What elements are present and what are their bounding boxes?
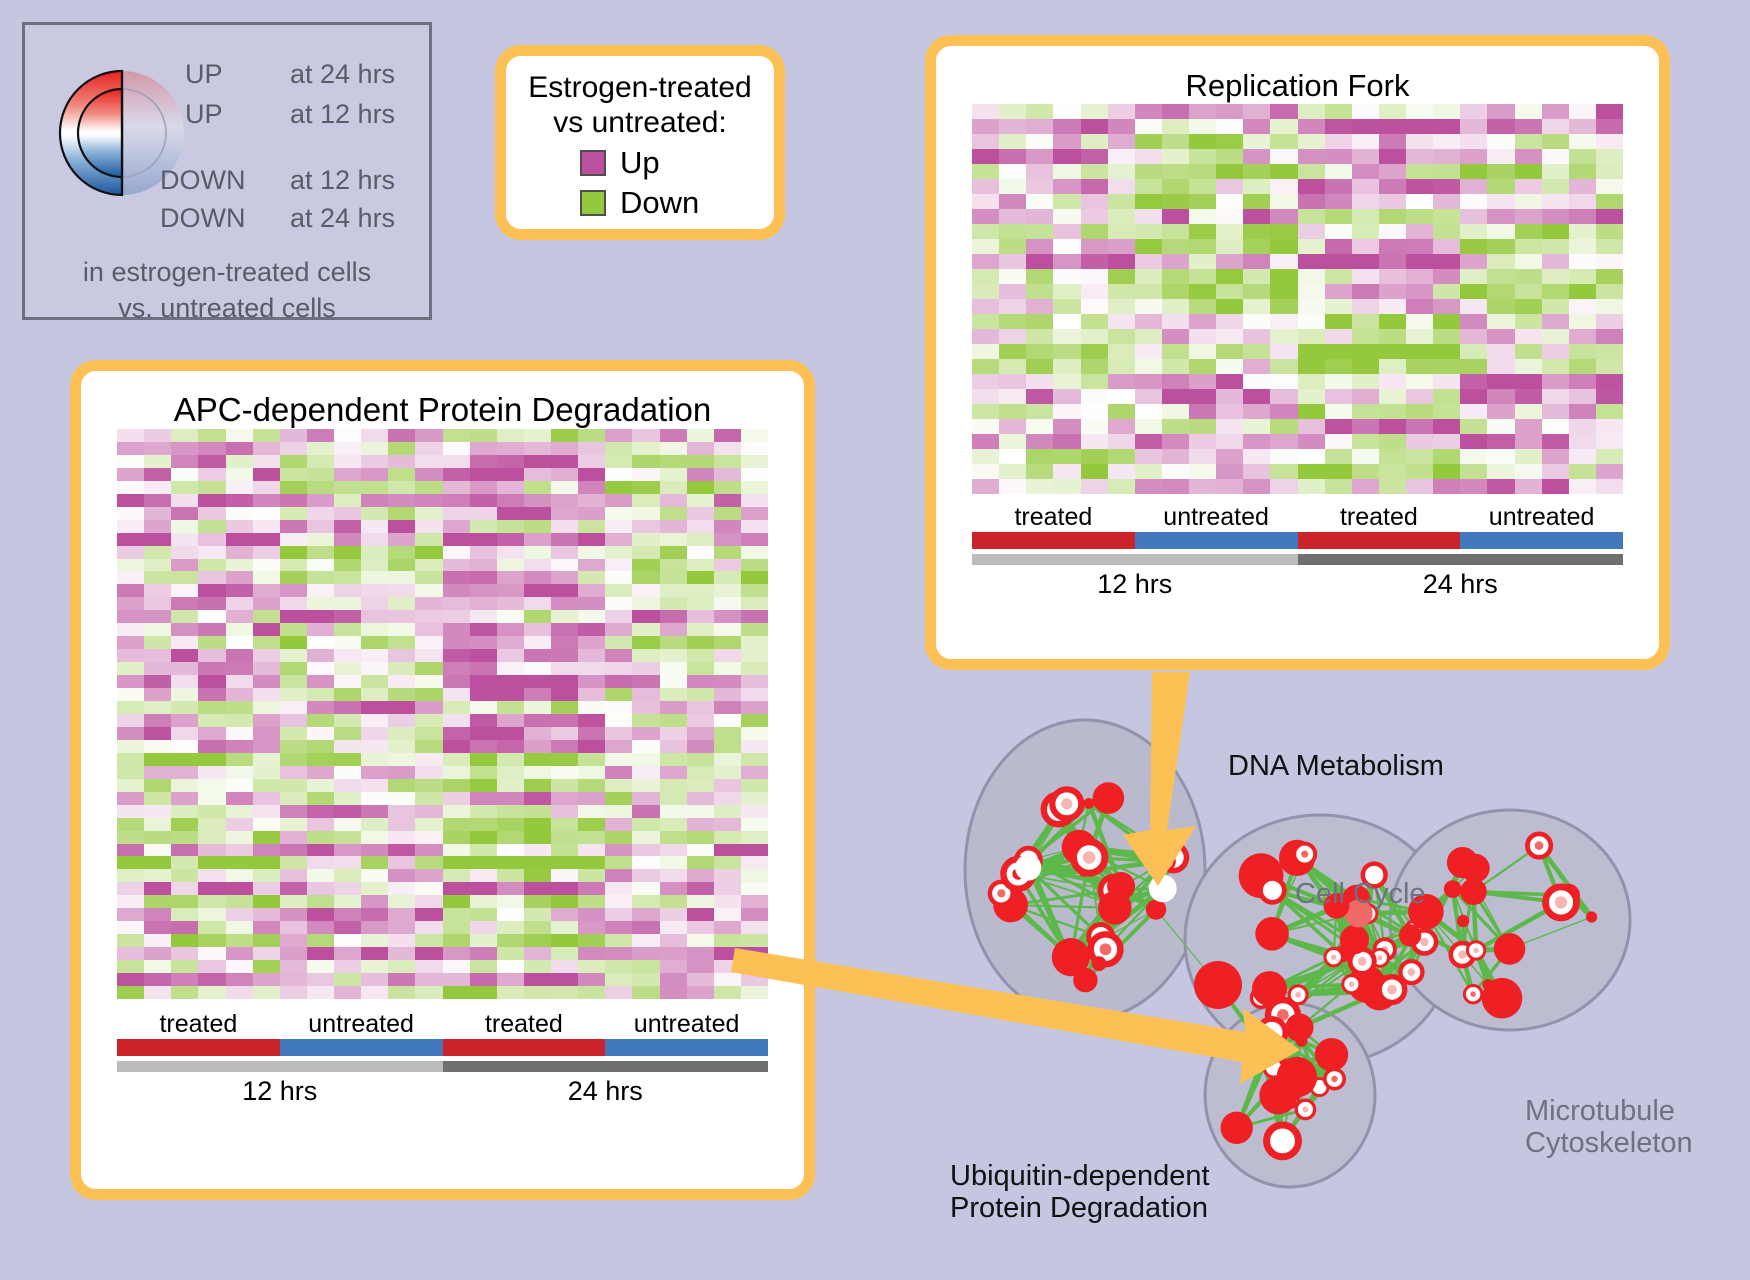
- heatmap-cell: [1352, 224, 1379, 239]
- heatmap-cell: [1243, 449, 1270, 464]
- heatmap-cell: [497, 882, 524, 895]
- heatmap-cell: [117, 792, 144, 805]
- heatmap-cell: [443, 844, 470, 857]
- heatmap-cell: [660, 844, 687, 857]
- heatmap-cell: [1216, 149, 1243, 164]
- heatmap-cell: [1243, 134, 1270, 149]
- heatmap-cell: [280, 831, 307, 844]
- heatmap-cell: [1460, 164, 1487, 179]
- heatmap-cell: [1379, 389, 1406, 404]
- heatmap-cell: [144, 882, 171, 895]
- heatmap-cell: [524, 533, 551, 546]
- heatmap-cell: [741, 546, 768, 559]
- network-node-core: [1295, 992, 1301, 998]
- heatmap-cell: [1053, 299, 1080, 314]
- heatmap-cell: [361, 934, 388, 947]
- heatmap-cell: [1243, 479, 1270, 494]
- heatmap-cell: [226, 805, 253, 818]
- heatmap-cell: [415, 869, 442, 882]
- heatmap-cell: [741, 869, 768, 882]
- heatmap-cell: [1352, 104, 1379, 119]
- heatmap-cell: [1270, 374, 1297, 389]
- heatmap-cell: [470, 740, 497, 753]
- heatmap-cell: [443, 779, 470, 792]
- heatmap-cell: [497, 753, 524, 766]
- heatmap-cell: [632, 533, 659, 546]
- heatmap-cell: [524, 818, 551, 831]
- heatmap-cell: [1135, 134, 1162, 149]
- heatmap-cell: [226, 662, 253, 675]
- heatmap-cell: [687, 792, 714, 805]
- heatmap-cell: [253, 533, 280, 546]
- heatmap-cell: [605, 468, 632, 481]
- heatmap-cell: [1189, 299, 1216, 314]
- heatmap-cell: [605, 753, 632, 766]
- heatmap-cell: [1108, 329, 1135, 344]
- heatmap-cell: [1596, 404, 1623, 419]
- heatmap-cell: [198, 869, 225, 882]
- heatmap-cell: [253, 610, 280, 623]
- heatmap-cell: [171, 960, 198, 973]
- heatmap-cell: [388, 727, 415, 740]
- heatmap-cell: [334, 805, 361, 818]
- heatmap-cell: [524, 481, 551, 494]
- heatmap-cell: [307, 960, 334, 973]
- heatmap-cell: [144, 507, 171, 520]
- heatmap-cell: [687, 766, 714, 779]
- heatmap-cell: [1135, 164, 1162, 179]
- heatmap-cell: [334, 701, 361, 714]
- heatmap-cell: [388, 546, 415, 559]
- heatmap-cell: [144, 688, 171, 701]
- heatmap-cell: [1569, 299, 1596, 314]
- heatmap-cell: [470, 869, 497, 882]
- heatmap-cell: [1270, 239, 1297, 254]
- heatmap-cell: [687, 882, 714, 895]
- heatmap-cell: [1270, 329, 1297, 344]
- heatmap-cell: [660, 986, 687, 999]
- heatmap-cell: [144, 584, 171, 597]
- heatmap-cell: [226, 520, 253, 533]
- heatmap-cell: [1542, 149, 1569, 164]
- heatmap-cell: [171, 740, 198, 753]
- heatmap-cell: [117, 597, 144, 610]
- heatmap-cell: [1596, 479, 1623, 494]
- heatmap-cell: [660, 610, 687, 623]
- legend-row-3-label: DOWN: [160, 203, 245, 234]
- heatmap-cell: [1569, 434, 1596, 449]
- heatmap-cell: [1379, 434, 1406, 449]
- heatmap-cell: [497, 766, 524, 779]
- heatmap-cell: [144, 960, 171, 973]
- heatmap-cell: [117, 805, 144, 818]
- heatmap-cell: [497, 947, 524, 960]
- heatmap-cell: [714, 507, 741, 520]
- heatmap-cell: [1243, 374, 1270, 389]
- heatmap-cell: [1487, 239, 1514, 254]
- heatmap-cell: [999, 179, 1026, 194]
- heatmap-cell: [226, 792, 253, 805]
- heatmap-cell: [334, 623, 361, 636]
- network-node-core: [1100, 943, 1112, 955]
- heatmap-cell: [1596, 164, 1623, 179]
- heatmap-cell: [280, 921, 307, 934]
- heatmap-cell: [1460, 329, 1487, 344]
- heatmap-cell: [1325, 299, 1352, 314]
- heatmap-cell: [226, 546, 253, 559]
- heatmap-cell: [361, 844, 388, 857]
- heatmap-cell: [334, 934, 361, 947]
- network-node-core: [1555, 896, 1567, 908]
- heatmap-cell: [1433, 314, 1460, 329]
- condition-bar-segment: [1460, 532, 1623, 549]
- heatmap-cell: [687, 559, 714, 572]
- heatmap-cell: [144, 533, 171, 546]
- heatmap-cell: [1081, 269, 1108, 284]
- heatmap-cell: [972, 479, 999, 494]
- heatmap-cell: [1487, 284, 1514, 299]
- heatmap-cell: [524, 882, 551, 895]
- heatmap-cell: [632, 494, 659, 507]
- heatmap-cell: [714, 805, 741, 818]
- heatmap-cell: [1433, 389, 1460, 404]
- heatmap-cell: [443, 831, 470, 844]
- updown-title-line1: Estrogen-treated: [506, 70, 774, 105]
- heatmap-cell: [687, 571, 714, 584]
- heatmap-cell: [660, 571, 687, 584]
- heatmap-cell: [334, 818, 361, 831]
- heatmap-cell: [1487, 374, 1514, 389]
- heatmap-cell: [1460, 119, 1487, 134]
- heatmap-cell: [1162, 224, 1189, 239]
- heatmap-cell: [226, 468, 253, 481]
- heatmap-cell: [361, 882, 388, 895]
- heatmap-cell: [280, 947, 307, 960]
- heatmap-cell: [1569, 389, 1596, 404]
- heatmap-cell: [524, 921, 551, 934]
- heatmap-cell: [524, 973, 551, 986]
- heatmap-cell: [551, 986, 578, 999]
- heatmap-cell: [1108, 299, 1135, 314]
- heatmap-cell: [497, 546, 524, 559]
- heatmap-cell: [551, 429, 578, 442]
- condition-label: untreated: [1135, 503, 1298, 532]
- heatmap-cell: [1515, 134, 1542, 149]
- heatmap-cell: [687, 688, 714, 701]
- heatmap-cell: [1081, 314, 1108, 329]
- heatmap-cell: [1270, 254, 1297, 269]
- heatmap-cell: [1406, 404, 1433, 419]
- heatmap-cell: [687, 429, 714, 442]
- heatmap-cell: [1298, 239, 1325, 254]
- heatmap-cell: [280, 934, 307, 947]
- heatmap-cell: [117, 701, 144, 714]
- heatmap-cell: [1243, 164, 1270, 179]
- heatmap-cell: [632, 856, 659, 869]
- heatmap-cell: [1189, 119, 1216, 134]
- heatmap-cell: [1379, 269, 1406, 284]
- heatmap-cell: [1298, 314, 1325, 329]
- heatmap-cell: [578, 844, 605, 857]
- apc-timepoint-bar: [117, 1061, 768, 1072]
- heatmap-cell: [1460, 434, 1487, 449]
- heatmap-cell: [1596, 194, 1623, 209]
- legend-row-0-time: at 24 hrs: [290, 59, 395, 90]
- heatmap-cell: [714, 559, 741, 572]
- heatmap-cell: [1053, 209, 1080, 224]
- heatmap-cell: [280, 960, 307, 973]
- heatmap-cell: [171, 533, 198, 546]
- heatmap-cell: [551, 610, 578, 623]
- heatmap-cell: [524, 753, 551, 766]
- heatmap-cell: [1596, 269, 1623, 284]
- heatmap-cell: [1108, 254, 1135, 269]
- heatmap-cell: [632, 546, 659, 559]
- heatmap-cell: [334, 533, 361, 546]
- heatmap-cell: [1325, 149, 1352, 164]
- heatmap-cell: [632, 818, 659, 831]
- heatmap-cell: [1270, 179, 1297, 194]
- heatmap-cell: [497, 844, 524, 857]
- heatmap-cell: [660, 818, 687, 831]
- heatmap-cell: [1433, 269, 1460, 284]
- heatmap-cell: [1596, 179, 1623, 194]
- heatmap-cell: [1189, 464, 1216, 479]
- heatmap-cell: [1379, 179, 1406, 194]
- heatmap-cell: [443, 520, 470, 533]
- heatmap-cell: [687, 895, 714, 908]
- heatmap-cell: [388, 714, 415, 727]
- heatmap-cell: [307, 805, 334, 818]
- heatmap-cell: [253, 636, 280, 649]
- heatmap-cell: [388, 960, 415, 973]
- heatmap-cell: [1162, 479, 1189, 494]
- heatmap-cell: [578, 494, 605, 507]
- heatmap-cell: [714, 649, 741, 662]
- heatmap-cell: [578, 856, 605, 869]
- heatmap-cell: [253, 805, 280, 818]
- heatmap-cell: [171, 973, 198, 986]
- heatmap-cell: [632, 520, 659, 533]
- heatmap-cell: [687, 520, 714, 533]
- heatmap-cell: [1379, 164, 1406, 179]
- heatmap-cell: [144, 947, 171, 960]
- heatmap-cell: [307, 895, 334, 908]
- heatmap-cell: [741, 882, 768, 895]
- heatmap-cell: [1433, 194, 1460, 209]
- heatmap-cell: [660, 688, 687, 701]
- heatmap-cell: [1081, 194, 1108, 209]
- heatmap-cell: [415, 546, 442, 559]
- heatmap-cell: [660, 727, 687, 740]
- heatmap-cell: [226, 818, 253, 831]
- heatmap-cell: [1189, 449, 1216, 464]
- heatmap-cell: [632, 649, 659, 662]
- heatmap-cell: [361, 507, 388, 520]
- heatmap-cell: [551, 494, 578, 507]
- microtubule-line2: Cytoskeleton: [1525, 1127, 1693, 1159]
- heatmap-cell: [415, 571, 442, 584]
- heatmap-cell: [1379, 419, 1406, 434]
- heatmap-cell: [226, 455, 253, 468]
- heatmap-cell: [1108, 464, 1135, 479]
- heatmap-cell: [1270, 284, 1297, 299]
- heatmap-cell: [578, 636, 605, 649]
- heatmap-cell: [714, 623, 741, 636]
- heatmap-cell: [551, 805, 578, 818]
- heatmap-cell: [1081, 359, 1108, 374]
- heatmap-cell: [1406, 194, 1433, 209]
- heatmap-cell: [1053, 134, 1080, 149]
- heatmap-cell: [1216, 269, 1243, 284]
- heatmap-cell: [334, 766, 361, 779]
- heatmap-cell: [226, 740, 253, 753]
- network-node: [1149, 875, 1177, 903]
- heatmap-cell: [1189, 209, 1216, 224]
- heatmap-cell: [334, 740, 361, 753]
- heatmap-cell: [144, 494, 171, 507]
- heatmap-cell: [198, 895, 225, 908]
- heatmap-cell: [1596, 434, 1623, 449]
- condition-bar-segment: [1298, 532, 1461, 549]
- heatmap-cell: [999, 269, 1026, 284]
- heatmap-cell: [687, 597, 714, 610]
- heatmap-cell: [497, 869, 524, 882]
- heatmap-cell: [605, 610, 632, 623]
- condition-bar-segment: [972, 532, 1135, 549]
- legend-row-2-time: at 12 hrs: [290, 165, 395, 196]
- heatmap-cell: [144, 766, 171, 779]
- cluster-label-microtubule-cytoskeleton: Microtubule Cytoskeleton: [1525, 1095, 1693, 1160]
- heatmap-cell: [443, 701, 470, 714]
- heatmap-cell: [714, 895, 741, 908]
- heatmap-cell: [226, 831, 253, 844]
- heatmap-cell: [443, 675, 470, 688]
- heatmap-cell: [1542, 434, 1569, 449]
- heatmap-cell: [1325, 209, 1352, 224]
- apc-panel-title: APC-dependent Protein Degradation: [81, 391, 804, 429]
- heatmap-cell: [999, 119, 1026, 134]
- heatmap-cell: [524, 546, 551, 559]
- heatmap-cell: [334, 792, 361, 805]
- heatmap-cell: [1053, 179, 1080, 194]
- heatmap-cell: [1026, 404, 1053, 419]
- heatmap-cell: [1352, 239, 1379, 254]
- heatmap-cell: [470, 520, 497, 533]
- heatmap-cell: [1026, 164, 1053, 179]
- heatmap-cell: [1053, 194, 1080, 209]
- heatmap-cell: [497, 649, 524, 662]
- heatmap-cell: [388, 688, 415, 701]
- heatmap-cell: [1569, 374, 1596, 389]
- heatmap-cell: [741, 688, 768, 701]
- heatmap-cell: [1542, 479, 1569, 494]
- heatmap-cell: [1569, 329, 1596, 344]
- heatmap-cell: [1406, 434, 1433, 449]
- heatmap-cell: [551, 856, 578, 869]
- heatmap-cell: [714, 934, 741, 947]
- heatmap-cell: [1542, 164, 1569, 179]
- heatmap-cell: [470, 584, 497, 597]
- heatmap-cell: [415, 882, 442, 895]
- heatmap-cell: [415, 934, 442, 947]
- heatmap-cell: [171, 856, 198, 869]
- heatmap-cell: [578, 973, 605, 986]
- heatmap-cell: [415, 766, 442, 779]
- heatmap-cell: [171, 792, 198, 805]
- network-node: [1586, 911, 1597, 922]
- timepoint-label: 12 hrs: [972, 569, 1298, 600]
- heatmap-cell: [632, 584, 659, 597]
- network-node: [1296, 1035, 1308, 1047]
- heatmap-cell: [334, 960, 361, 973]
- heatmap-cell: [198, 662, 225, 675]
- heatmap-cell: [1189, 479, 1216, 494]
- heatmap-cell: [470, 675, 497, 688]
- heatmap-cell: [1135, 434, 1162, 449]
- heatmap-cell: [253, 818, 280, 831]
- network-node: [1461, 854, 1490, 883]
- heatmap-cell: [741, 571, 768, 584]
- heatmap-cell: [999, 434, 1026, 449]
- heatmap-cell: [1108, 404, 1135, 419]
- heatmap-cell: [1460, 479, 1487, 494]
- heatmap-cell: [1298, 134, 1325, 149]
- heatmap-cell: [1352, 164, 1379, 179]
- heatmap-cell: [741, 818, 768, 831]
- heatmap-cell: [1406, 149, 1433, 164]
- heatmap-cell: [605, 533, 632, 546]
- heatmap-cell: [578, 623, 605, 636]
- heatmap-cell: [361, 662, 388, 675]
- heatmap-cell: [714, 908, 741, 921]
- heatmap-cell: [334, 559, 361, 572]
- heatmap-cell: [117, 727, 144, 740]
- network-node: [1315, 1038, 1348, 1071]
- heatmap-cell: [1379, 104, 1406, 119]
- heatmap-cell: [253, 662, 280, 675]
- heatmap-cell: [1298, 194, 1325, 209]
- heatmap-cell: [551, 727, 578, 740]
- heatmap-cell: [1108, 224, 1135, 239]
- heatmap-cell: [334, 662, 361, 675]
- heatmap-cell: [307, 740, 334, 753]
- heatmap-cell: [578, 520, 605, 533]
- heatmap-cell: [578, 701, 605, 714]
- heatmap-cell: [741, 960, 768, 973]
- heatmap-cell: [307, 520, 334, 533]
- heatmap-cell: [1135, 359, 1162, 374]
- heatmap-cell: [605, 584, 632, 597]
- heatmap-cell: [1596, 389, 1623, 404]
- heatmap-cell: [171, 442, 198, 455]
- apc-timepoint-labels: 12 hrs 24 hrs: [117, 1076, 768, 1107]
- heatmap-cell: [1515, 179, 1542, 194]
- heatmap-cell: [1053, 149, 1080, 164]
- heatmap-cell: [632, 844, 659, 857]
- heatmap-cell: [551, 533, 578, 546]
- heatmap-cell: [171, 481, 198, 494]
- heatmap-cell: [1243, 194, 1270, 209]
- heatmap-cell: [361, 675, 388, 688]
- heatmap-cell: [1108, 359, 1135, 374]
- condition-label: treated: [972, 503, 1135, 532]
- heatmap-cell: [253, 831, 280, 844]
- heatmap-cell: [198, 610, 225, 623]
- network-node-core: [1301, 851, 1308, 858]
- heatmap-cell: [551, 662, 578, 675]
- heatmap-cell: [741, 597, 768, 610]
